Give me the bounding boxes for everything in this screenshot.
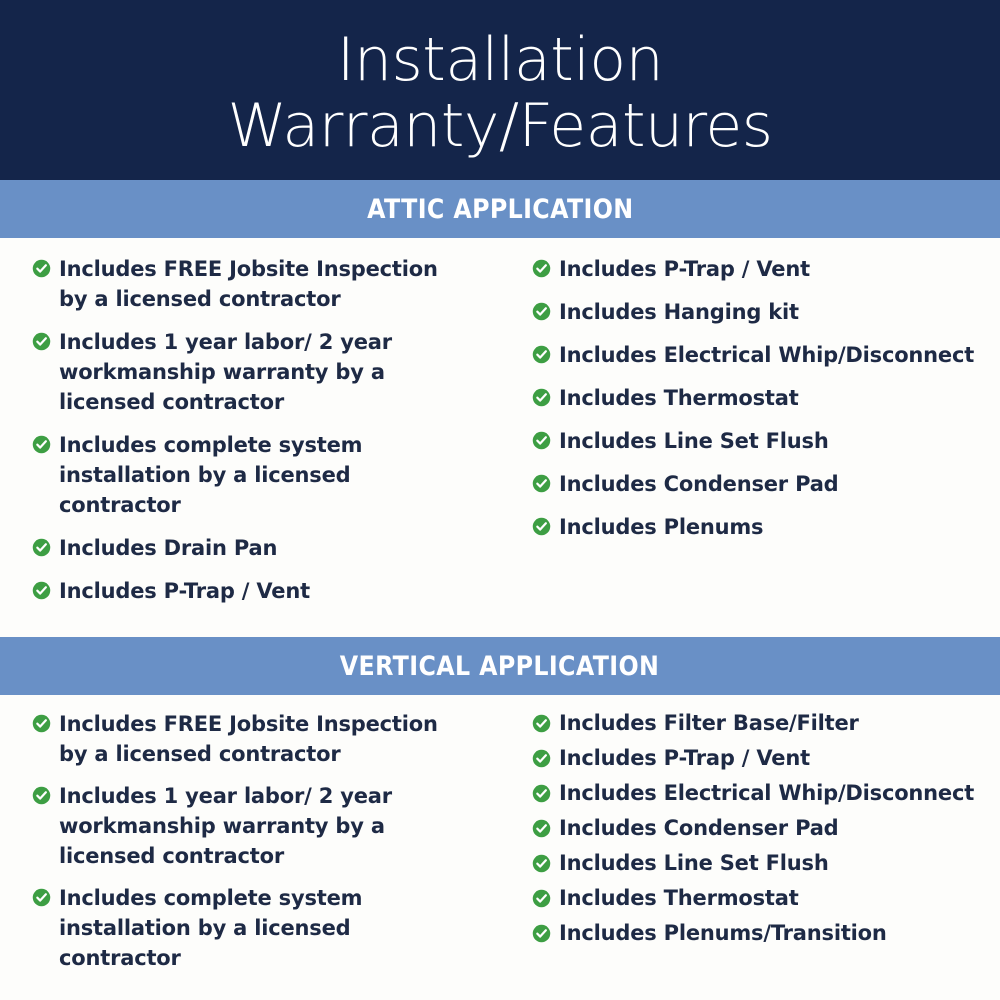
check-circle-icon bbox=[532, 714, 551, 733]
section-divider-space bbox=[0, 625, 1000, 637]
list-item: Includes Thermostat bbox=[532, 884, 980, 913]
section-band-label-attic: ATTIC APPLICATION bbox=[367, 194, 633, 225]
list-item: Includes Filter Base/Filter bbox=[532, 709, 980, 738]
list-item-label: Includes Filter Base/Filter bbox=[559, 709, 859, 738]
check-circle-icon bbox=[532, 474, 551, 493]
installation-warranty-features-page: Installation Warranty/Features ATTIC APP… bbox=[0, 0, 1000, 1000]
list-item-label: Includes Thermostat bbox=[559, 383, 799, 413]
section-band-attic: ATTIC APPLICATION bbox=[0, 180, 1000, 238]
check-circle-icon bbox=[532, 889, 551, 908]
vertical-left-column: Includes FREE Jobsite Inspection by a li… bbox=[0, 709, 500, 985]
list-item-label: Includes Line Set Flush bbox=[559, 849, 829, 878]
check-circle-icon bbox=[532, 431, 551, 450]
check-circle-icon bbox=[532, 517, 551, 536]
check-circle-icon bbox=[532, 784, 551, 803]
list-item: Includes 1 year labor/ 2 year workmanshi… bbox=[32, 327, 472, 417]
list-item-label: Includes Condenser Pad bbox=[559, 469, 839, 499]
check-circle-icon bbox=[32, 259, 51, 278]
list-item-label: Includes FREE Jobsite Inspection by a li… bbox=[59, 254, 472, 314]
check-circle-icon bbox=[32, 581, 51, 600]
list-item: Includes complete system installation by… bbox=[32, 430, 472, 520]
list-item: Includes Hanging kit bbox=[532, 297, 980, 327]
list-item: Includes FREE Jobsite Inspection by a li… bbox=[32, 709, 472, 769]
list-item-label: Includes Plenums/Transition bbox=[559, 919, 887, 948]
list-item-label: Includes Plenums bbox=[559, 512, 763, 542]
section-body-attic: Includes FREE Jobsite Inspection by a li… bbox=[0, 238, 1000, 625]
section-vertical: VERTICAL APPLICATION Includes FREE Jobsi… bbox=[0, 637, 1000, 991]
list-item-label: Includes Electrical Whip/Disconnect bbox=[559, 340, 974, 370]
page-title-line-1: Installation bbox=[337, 27, 663, 93]
check-circle-icon bbox=[532, 924, 551, 943]
list-item-label: Includes FREE Jobsite Inspection by a li… bbox=[59, 709, 472, 769]
list-item: Includes P-Trap / Vent bbox=[532, 744, 980, 773]
section-attic: ATTIC APPLICATION Includes FREE Jobsite … bbox=[0, 180, 1000, 625]
check-circle-icon bbox=[32, 435, 51, 454]
check-circle-icon bbox=[32, 888, 51, 907]
section-body-vertical: Includes FREE Jobsite Inspection by a li… bbox=[0, 695, 1000, 991]
list-item-label: Includes Line Set Flush bbox=[559, 426, 829, 456]
check-circle-icon bbox=[32, 538, 51, 557]
check-circle-icon bbox=[532, 259, 551, 278]
list-item: Includes complete system installation by… bbox=[32, 883, 472, 973]
list-item-label: Includes P-Trap / Vent bbox=[559, 744, 810, 773]
list-item-label: Includes complete system installation by… bbox=[59, 430, 472, 520]
list-item-label: Includes complete system installation by… bbox=[59, 883, 472, 973]
check-circle-icon bbox=[32, 714, 51, 733]
page-title-banner: Installation Warranty/Features bbox=[0, 0, 1000, 180]
list-item-label: Includes 1 year labor/ 2 year workmanshi… bbox=[59, 327, 472, 417]
list-item-label: Includes Condenser Pad bbox=[559, 814, 839, 843]
vertical-right-column: Includes Filter Base/Filter Includes P-T… bbox=[500, 709, 1000, 985]
list-item: Includes Thermostat bbox=[532, 383, 980, 413]
list-item: Includes P-Trap / Vent bbox=[532, 254, 980, 284]
list-item: Includes FREE Jobsite Inspection by a li… bbox=[32, 254, 472, 314]
list-item-label: Includes P-Trap / Vent bbox=[59, 576, 310, 606]
check-circle-icon bbox=[32, 332, 51, 351]
attic-right-column: Includes P-Trap / Vent Includes Hanging … bbox=[500, 254, 1000, 619]
list-item-label: Includes Electrical Whip/Disconnect bbox=[559, 779, 974, 808]
list-item: Includes Condenser Pad bbox=[532, 469, 980, 499]
check-circle-icon bbox=[532, 749, 551, 768]
list-item: Includes Electrical Whip/Disconnect bbox=[532, 779, 980, 808]
list-item: Includes Electrical Whip/Disconnect bbox=[532, 340, 980, 370]
section-band-label-vertical: VERTICAL APPLICATION bbox=[340, 651, 659, 682]
attic-left-column: Includes FREE Jobsite Inspection by a li… bbox=[0, 254, 500, 619]
list-item: Includes Plenums bbox=[532, 512, 980, 542]
check-circle-icon bbox=[532, 819, 551, 838]
check-circle-icon bbox=[532, 302, 551, 321]
check-circle-icon bbox=[532, 345, 551, 364]
list-item: Includes Condenser Pad bbox=[532, 814, 980, 843]
check-circle-icon bbox=[532, 388, 551, 407]
list-item: Includes Line Set Flush bbox=[532, 849, 980, 878]
page-title-line-2: Warranty/Features bbox=[227, 93, 772, 159]
list-item-label: Includes Drain Pan bbox=[59, 533, 277, 563]
list-item-label: Includes 1 year labor/ 2 year workmanshi… bbox=[59, 781, 472, 871]
list-item-label: Includes Thermostat bbox=[559, 884, 799, 913]
list-item: Includes P-Trap / Vent bbox=[32, 576, 472, 606]
list-item: Includes Drain Pan bbox=[32, 533, 472, 563]
list-item-label: Includes Hanging kit bbox=[559, 297, 799, 327]
list-item: Includes 1 year labor/ 2 year workmanshi… bbox=[32, 781, 472, 871]
section-band-vertical: VERTICAL APPLICATION bbox=[0, 637, 1000, 695]
list-item: Includes Line Set Flush bbox=[532, 426, 980, 456]
check-circle-icon bbox=[532, 854, 551, 873]
list-item-label: Includes P-Trap / Vent bbox=[559, 254, 810, 284]
list-item: Includes Plenums/Transition bbox=[532, 919, 980, 948]
check-circle-icon bbox=[32, 786, 51, 805]
